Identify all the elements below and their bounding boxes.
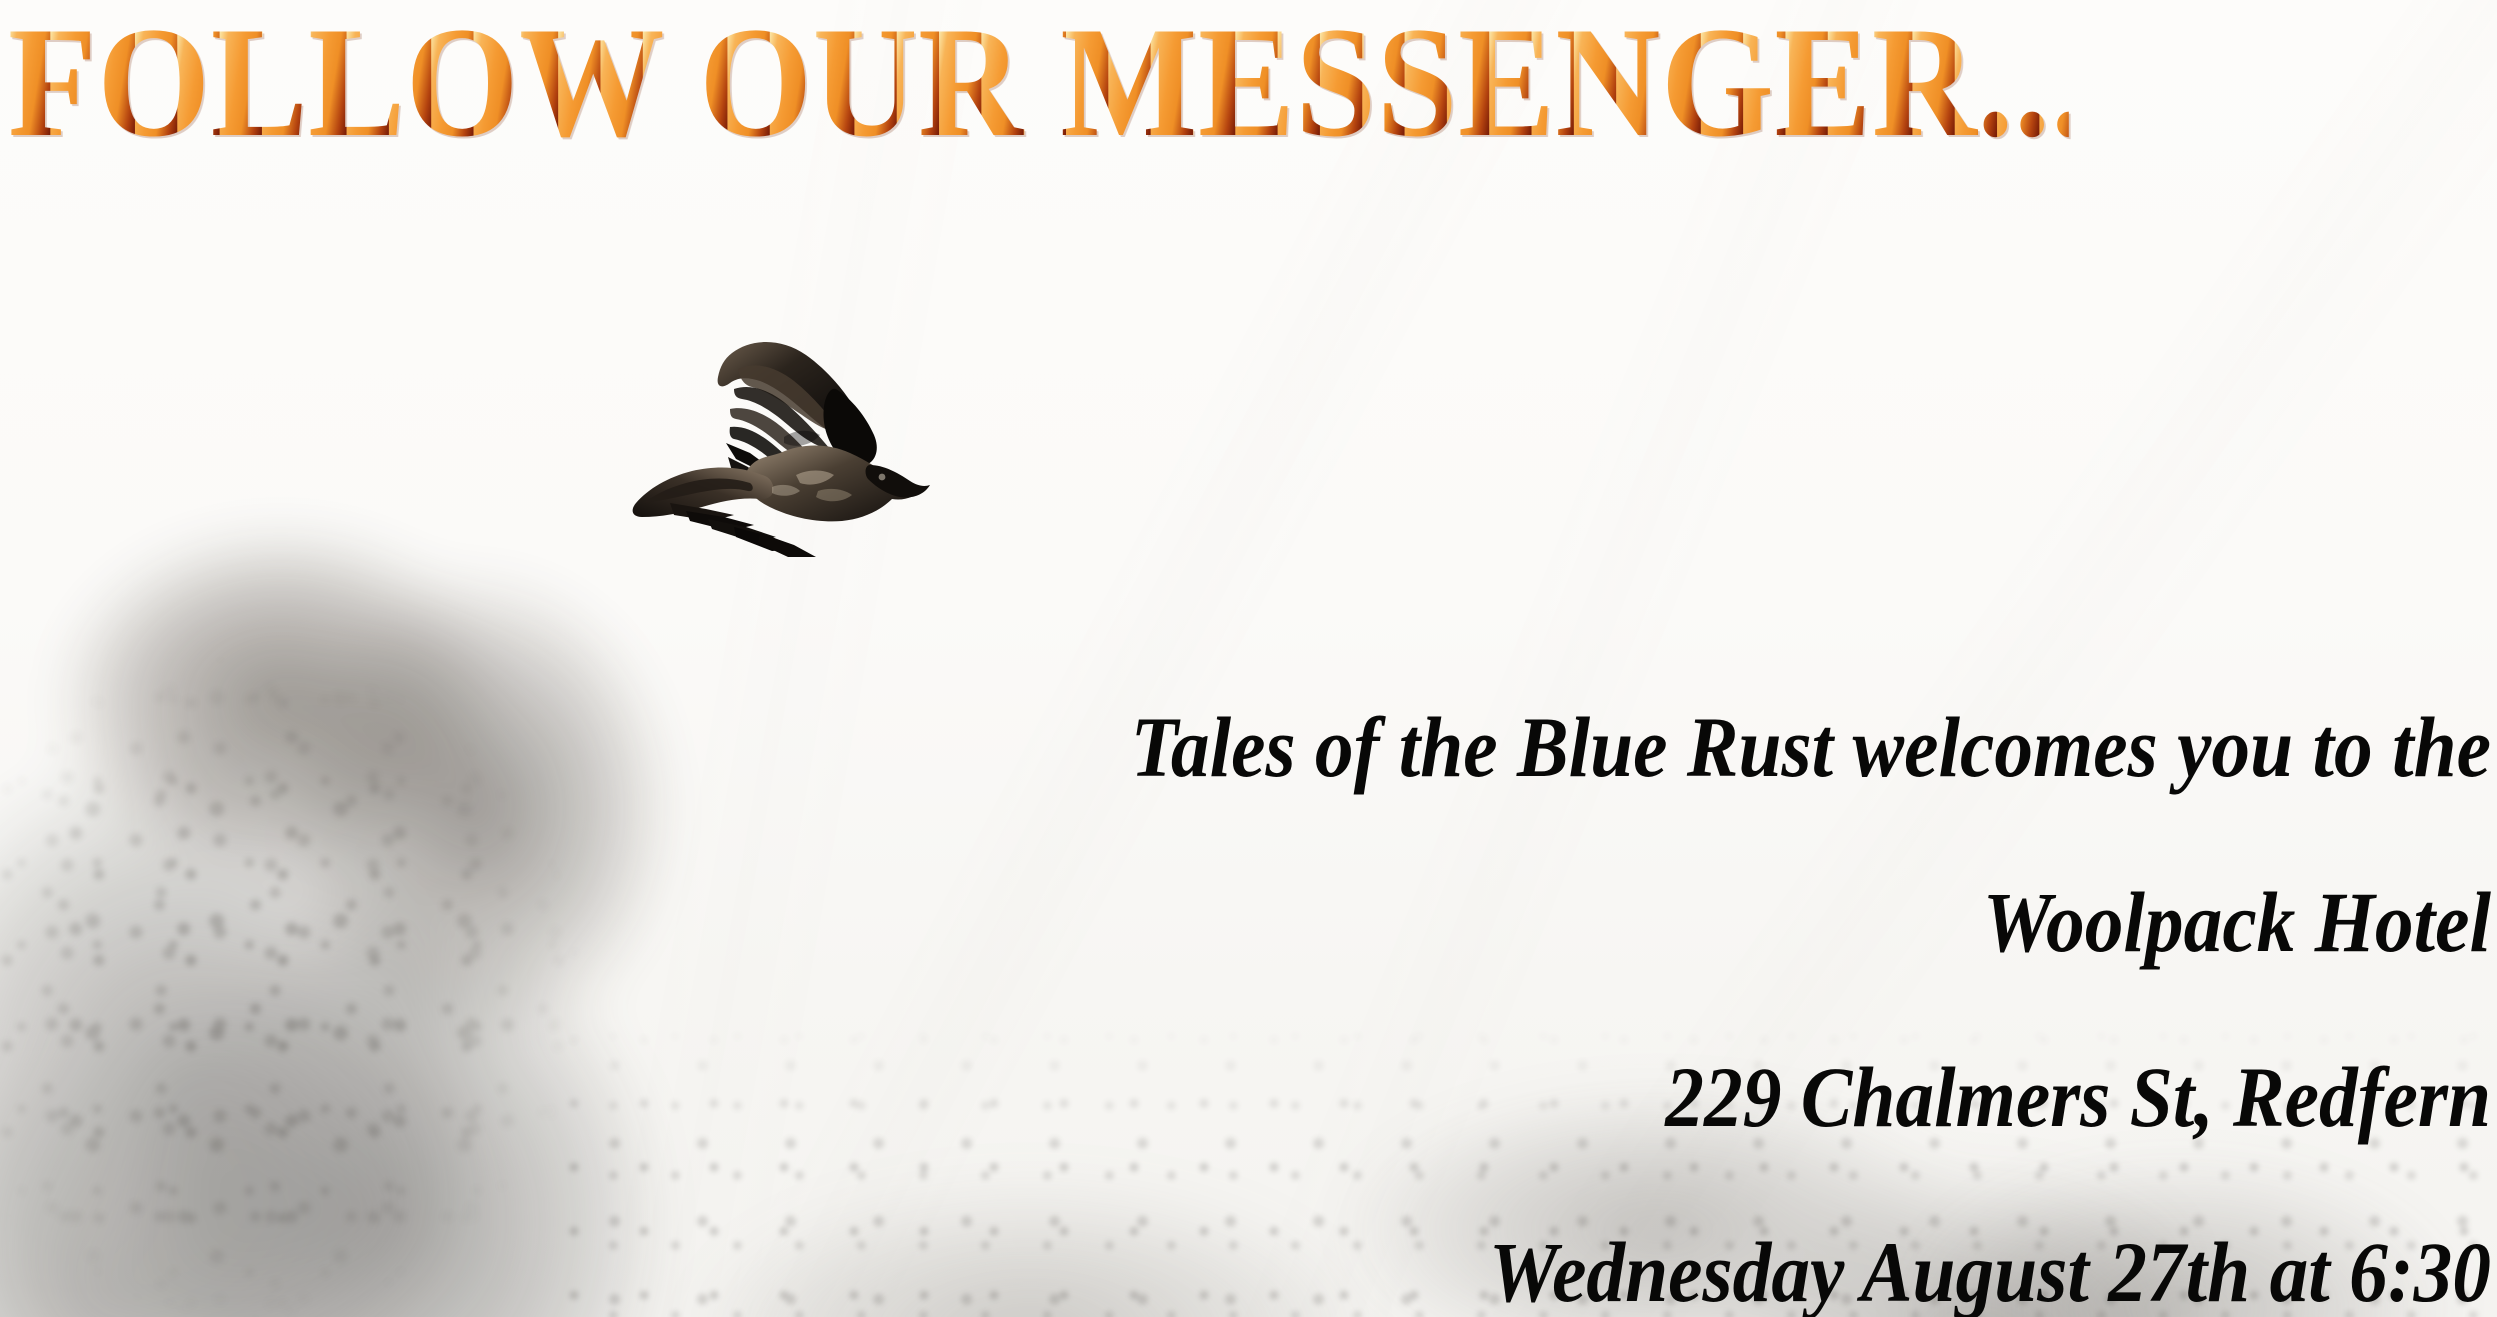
- copy-line-2: Woolpack Hotel: [781, 835, 2491, 1010]
- copy-line-1: Tales of the Blue Rust welcomes you to t…: [781, 660, 2491, 835]
- poster-canvas: FOLLOW OUR MESSENGER...: [0, 0, 2497, 1317]
- page-title: FOLLOW OUR MESSENGER...: [8, 4, 2069, 162]
- copy-line-4: Wednesday August 27th at 6:30: [781, 1185, 2491, 1317]
- copy-line-3: 229 Chalmers St, Redfern: [781, 1010, 2491, 1185]
- event-copy: Tales of the Blue Rust welcomes you to t…: [781, 660, 2491, 1317]
- flying-crow-icon: [630, 325, 930, 563]
